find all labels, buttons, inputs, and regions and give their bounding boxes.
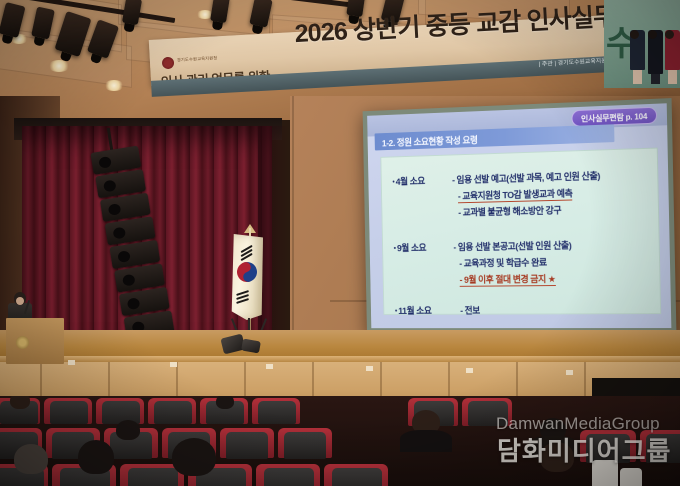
poster-person	[630, 30, 645, 84]
banner-logo-text: 경기도수원교육지원청	[177, 55, 218, 63]
poster-person	[665, 30, 680, 84]
slide-line: - 임용 선발 본공고(선발 인원 산출)	[453, 236, 571, 255]
presenter-face	[16, 297, 24, 305]
podium	[6, 318, 64, 364]
curtain-edge-shadow	[258, 126, 288, 341]
organization-logo-icon	[162, 57, 175, 70]
audience-head	[10, 396, 30, 409]
screenshot-root: 경기도수원교육지원청 인사 관리 업무를 위한 2026 상반기 중등 교감 인…	[0, 0, 680, 486]
slide-line-text: - 임용 선발 본공고(선발 인원 산출)	[453, 240, 571, 253]
audience-head	[172, 438, 216, 476]
audience-shoulders	[400, 430, 452, 452]
audience-person-white-sleeve	[620, 468, 642, 486]
slide-group-lead: 4월 소요	[392, 176, 425, 187]
slide-line-text: - 9월 이후 절대 변경 금지 ★	[459, 273, 555, 286]
slide-group: 11월 소요	[395, 301, 432, 318]
poster-person	[648, 30, 663, 84]
audience-head	[78, 440, 114, 474]
slide-group-lead: 11월 소요	[395, 306, 432, 317]
projection-screen: 인사실무편람 p. 104 1-2. 정원 소요현황 작성 요령 4월 소요 -…	[363, 98, 677, 334]
presentation-slide: 인사실무편람 p. 104 1-2. 정원 소요현황 작성 요령 4월 소요 -…	[367, 103, 671, 328]
slide-line: - 9월 이후 절대 변경 금지 ★	[459, 269, 555, 287]
audience-head	[216, 396, 234, 409]
slide-group: 9월 소요	[394, 238, 427, 256]
slide-content-box: 4월 소요 - 임용 선발 예고(선발 과목, 예고 인원 산출) - 교육지원…	[380, 148, 661, 315]
slide-line-text: - 교과별 불균형 해소방안 강구	[458, 205, 561, 218]
slide-line-text: - 전보	[460, 305, 480, 316]
slide-title-text: 1-2. 정원 소요현황 작성 요령	[382, 132, 478, 149]
slide-group: 4월 소요	[392, 172, 425, 190]
slide-line-text: - 교육과정 및 학급수 완료	[459, 257, 547, 269]
slide-line-text: - 임용 선발 예고(선발 과목, 예고 인원 산출)	[452, 170, 600, 185]
audience-head	[14, 444, 48, 474]
wall-photo-poster: 수	[604, 0, 680, 88]
slide-line: - 교과별 불균형 해소방안 강구	[458, 201, 561, 221]
reference-badge: 인사실무편람 p. 104	[571, 107, 657, 127]
podium-emblem-icon	[16, 336, 29, 349]
slide-group-lead: 9월 소요	[394, 243, 427, 254]
slide-line: - 전보	[460, 301, 480, 318]
audience-head	[116, 420, 140, 440]
watermark-korean: 담화미디어그룹	[497, 431, 671, 468]
